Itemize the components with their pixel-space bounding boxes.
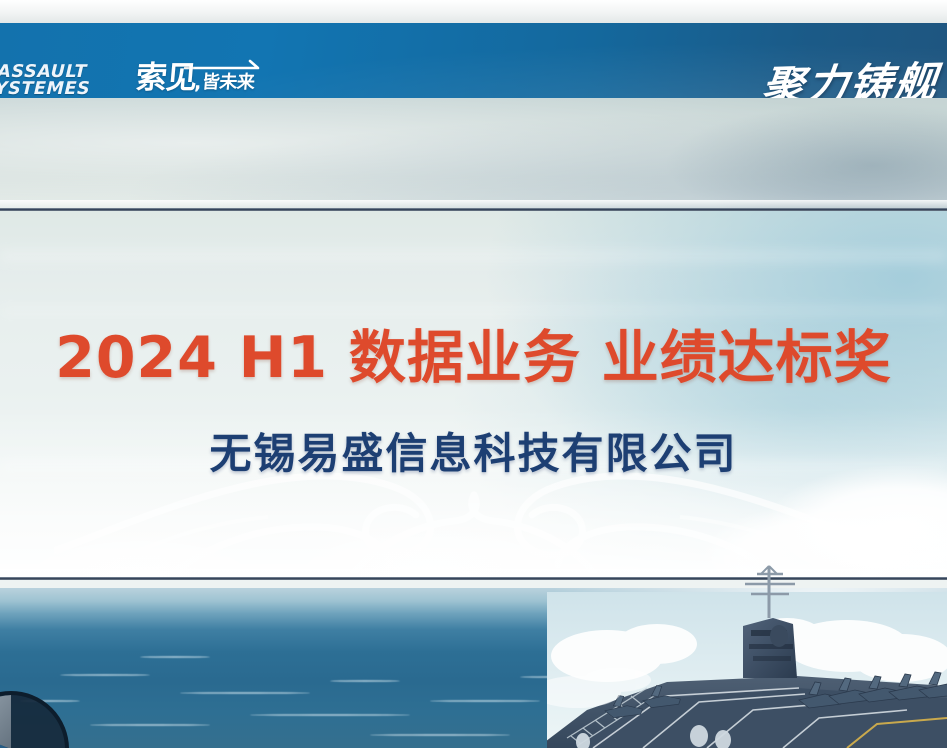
top-white-strip [0, 0, 947, 23]
upper-haze-band [0, 98, 947, 210]
header-banner: DASSAULT SYSTEMES 索见,皆未来 聚力铸舰 破 [0, 23, 947, 98]
slogan-comma: , [194, 72, 201, 94]
slogan-tail: 皆未来 [201, 68, 256, 94]
page-title: 2024 H1 数据业务 业绩达标奖 [0, 318, 947, 398]
3dexperience-compass-icon[interactable]: % > i [0, 690, 70, 748]
award-certificate-slide: DASSAULT SYSTEMES 索见,皆未来 聚力铸舰 破 [0, 0, 947, 748]
aircraft-carrier-illustration [547, 560, 947, 748]
brand-line-1: DASSAULT [0, 64, 91, 81]
dassault-systemes-wordmark: DASSAULT SYSTEMES [0, 64, 91, 98]
company-name: 无锡易盛信息科技有限公司 [0, 423, 947, 485]
brand-line-2: SYSTEMES [0, 81, 91, 98]
event-calligraphy-slogan: 聚力铸舰 破 [758, 52, 947, 98]
brand-slogan: 索见,皆未来 [136, 63, 255, 94]
slogan-main: 索见 [135, 63, 198, 94]
arrow-right-icon [184, 59, 268, 71]
